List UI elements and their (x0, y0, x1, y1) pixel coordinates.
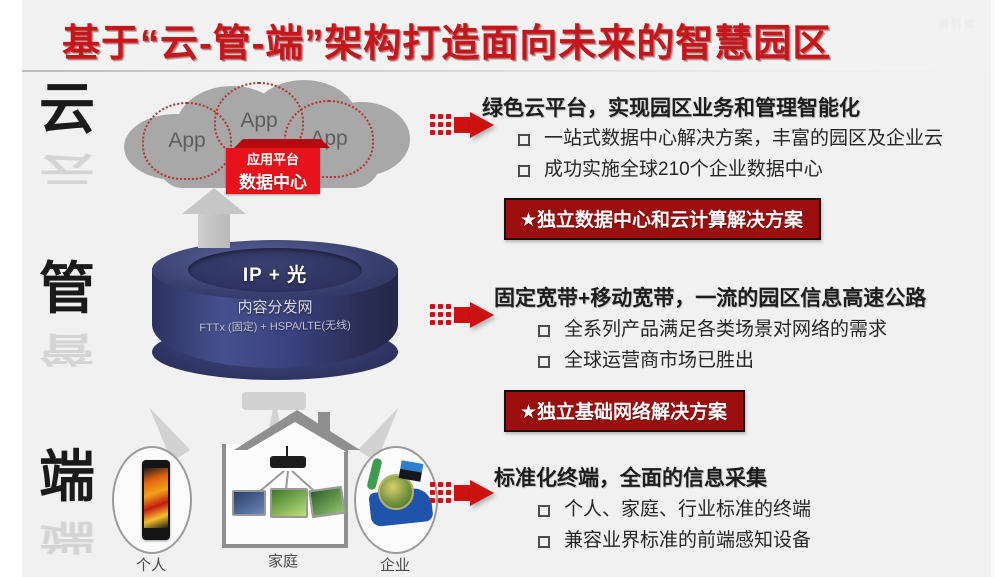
section-heading-end: 标准化终端，全面的信息采集 (494, 462, 767, 492)
bullet-square-icon (518, 134, 530, 146)
tv-icon (270, 488, 308, 518)
cylinder-label-cdn: 内容分发网 (152, 296, 398, 317)
bullet-square-icon (538, 536, 550, 548)
section-bullets-pipe: 全系列产品满足各类场景对网络的需求 全球运营商市场已胜出 (538, 317, 887, 378)
house-icon (222, 444, 348, 548)
device-oval (354, 446, 438, 554)
device-oval (112, 446, 192, 554)
bullet-text: 一站式数据中心解决方案，丰富的园区及企业云 (544, 126, 943, 152)
bullet-item: 兼容业界标准的前端感知设备 (538, 528, 811, 554)
device-label-person: 个人 (108, 554, 194, 575)
layer-label-end: 端 端 (30, 450, 104, 564)
device-label-home: 家庭 (208, 550, 358, 571)
device-label-enterprise: 企业 (350, 554, 440, 575)
section-marker-end-icon (430, 478, 496, 508)
device-home: 家庭 (208, 430, 358, 576)
laptop-icon (232, 490, 266, 516)
left-margin-strip (0, 0, 22, 577)
bullet-text: 全球运营商市场已胜出 (564, 348, 754, 374)
layer-label-cloud-text: 云 (39, 77, 95, 142)
layer-label-cloud-reflection: 云 (30, 151, 104, 186)
bullet-text: 个人、家庭、行业标准的终端 (564, 497, 811, 523)
section-heading-cloud: 绿色云平台，实现园区业务和管理智能化 (482, 92, 860, 122)
bullet-item: 一站式数据中心解决方案，丰富的园区及企业云 (518, 126, 943, 152)
bullet-text: 兼容业界标准的前端感知设备 (564, 528, 811, 554)
slide-canvas: 资料库 基于“云-管-端”架构打造面向未来的智慧园区 云 云 管 管 端 端 A… (0, 0, 995, 577)
right-content-column: 绿色云平台，实现园区业务和管理智能化 一站式数据中心解决方案，丰富的园区及企业云… (430, 74, 995, 577)
layer-label-end-text: 端 (39, 445, 95, 510)
tablet-icon (308, 486, 346, 518)
page-title: 基于“云-管-端”架构打造面向未来的智慧园区 (62, 12, 962, 67)
callout-box-cloud: ★独立数据中心和云计算解决方案 (504, 198, 821, 240)
callout-box-pipe: ★独立基础网络解决方案 (504, 390, 745, 432)
callout-text-cloud: ★独立数据中心和云计算解决方案 (520, 210, 803, 231)
cylinder-label-ip-optical: IP + 光 (152, 260, 398, 287)
sensor-chip-icon (399, 460, 424, 482)
watermark-text: 资料库 (938, 16, 977, 32)
application-platform-label: 应用平台 (226, 149, 320, 168)
device-person: 个人 (108, 446, 194, 576)
bullet-item: 个人、家庭、行业标准的终端 (538, 497, 811, 523)
bullet-square-icon (518, 165, 530, 177)
smartphone-icon (142, 460, 170, 540)
bullet-square-icon (538, 356, 550, 368)
bullet-text: 全系列产品满足各类场景对网络的需求 (564, 317, 887, 343)
bullet-square-icon (538, 325, 550, 337)
bullet-item: 全系列产品满足各类场景对网络的需求 (538, 317, 887, 343)
layer-label-pipe: 管 管 (30, 262, 104, 376)
section-bullets-cloud: 一站式数据中心解决方案，丰富的园区及企业云 成功实施全球210个企业数据中心 (518, 126, 943, 187)
set-top-box-icon (270, 456, 306, 468)
title-divider (22, 70, 995, 72)
bullet-text: 成功实施全球210个企业数据中心 (544, 157, 823, 183)
layer-label-cloud: 云 云 (30, 82, 104, 196)
section-heading-pipe: 固定宽带+移动宽带，一流的园区信息高速公路 (494, 282, 926, 312)
section-marker-pipe-icon (430, 300, 496, 330)
layer-label-end-reflection: 端 (30, 519, 104, 554)
cloud-graphic: App App App 应用平台 数据中心 (118, 78, 418, 198)
device-enterprise: 企业 (350, 446, 440, 576)
callout-text-pipe: ★独立基础网络解决方案 (520, 402, 727, 423)
network-cylinder-graphic: IP + 光 内容分发网 FTTx (固定) + HSPA/LTE(无线) (152, 240, 398, 392)
layer-label-pipe-reflection: 管 (30, 331, 104, 366)
bullet-item: 成功实施全球210个企业数据中心 (518, 157, 943, 183)
layer-label-pipe-text: 管 (39, 257, 95, 322)
section-bullets-end: 个人、家庭、行业标准的终端 兼容业界标准的前端感知设备 (538, 497, 811, 558)
bullet-square-icon (538, 505, 550, 517)
title-band: 基于“云-管-端”架构打造面向未来的智慧园区 (22, 0, 995, 72)
right-margin-strip (991, 0, 995, 577)
bullet-item: 全球运营商市场已胜出 (538, 348, 887, 374)
